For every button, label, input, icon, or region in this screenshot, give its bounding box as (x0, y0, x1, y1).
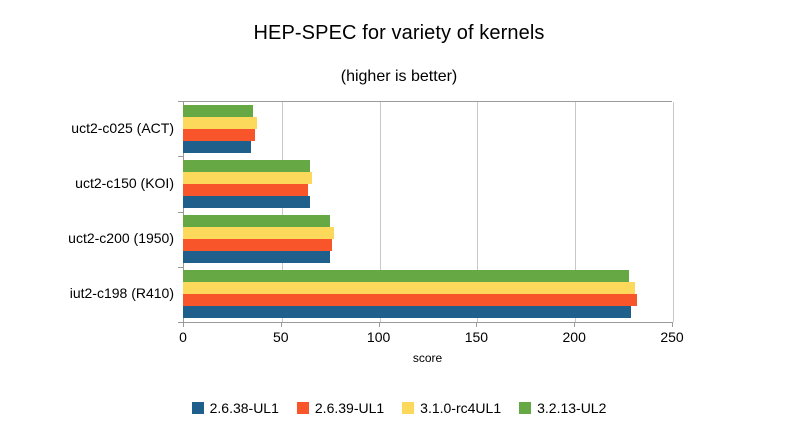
y-axis-category-label: iut2-c198 (R410) (14, 285, 174, 301)
bar (183, 129, 255, 141)
x-tick (672, 322, 673, 327)
x-axis-line (183, 322, 672, 323)
bar (183, 105, 253, 117)
bar (183, 251, 330, 263)
gridline (673, 102, 674, 322)
legend-swatch-icon (402, 402, 414, 414)
y-axis-category-label: uct2-c025 (ACT) (14, 120, 174, 136)
legend-label: 3.1.0-rc4UL1 (420, 400, 501, 416)
bar (183, 160, 310, 172)
x-tick-label: 100 (367, 329, 390, 345)
legend-swatch-icon (192, 402, 204, 414)
y-tick (178, 101, 183, 102)
legend-label: 3.2.13-UL2 (537, 400, 606, 416)
legend-item[interactable]: 2.6.39-UL1 (297, 400, 384, 416)
x-axis-title: score (183, 351, 672, 365)
bar (183, 172, 312, 184)
y-axis-category-label: uct2-c200 (1950) (14, 230, 174, 246)
chart-container: HEP-SPEC for variety of kernels (higher … (0, 0, 798, 432)
y-axis-category-label: uct2-c150 (KOI) (14, 175, 174, 191)
legend-item[interactable]: 3.2.13-UL2 (519, 400, 606, 416)
legend-label: 2.6.38-UL1 (210, 400, 279, 416)
bar (183, 282, 635, 294)
bar (183, 215, 330, 227)
y-tick (178, 156, 183, 157)
legend-swatch-icon (519, 402, 531, 414)
chart-subtitle: (higher is better) (0, 68, 798, 86)
bar (183, 294, 637, 306)
y-tick (178, 267, 183, 268)
bar (183, 141, 251, 153)
x-tick (379, 322, 380, 327)
x-tick-label: 200 (563, 329, 586, 345)
bar (183, 184, 308, 196)
x-tick (183, 322, 184, 327)
y-tick (178, 322, 183, 323)
x-tick-label: 150 (465, 329, 488, 345)
bar (183, 306, 631, 318)
x-tick-label: 50 (273, 329, 289, 345)
chart-legend: 2.6.38-UL12.6.39-UL13.1.0-rc4UL13.2.13-U… (0, 400, 798, 416)
bar (183, 239, 332, 251)
x-tick-label: 0 (179, 329, 187, 345)
legend-item[interactable]: 3.1.0-rc4UL1 (402, 400, 501, 416)
chart-title: HEP-SPEC for variety of kernels (0, 22, 798, 45)
legend-swatch-icon (297, 402, 309, 414)
y-tick (178, 212, 183, 213)
bar (183, 117, 257, 129)
x-tick-label: 250 (660, 329, 683, 345)
x-tick (281, 322, 282, 327)
x-tick (476, 322, 477, 327)
bar (183, 270, 629, 282)
bar (183, 196, 310, 208)
legend-label: 2.6.39-UL1 (315, 400, 384, 416)
bar (183, 227, 334, 239)
legend-item[interactable]: 2.6.38-UL1 (192, 400, 279, 416)
x-tick (574, 322, 575, 327)
